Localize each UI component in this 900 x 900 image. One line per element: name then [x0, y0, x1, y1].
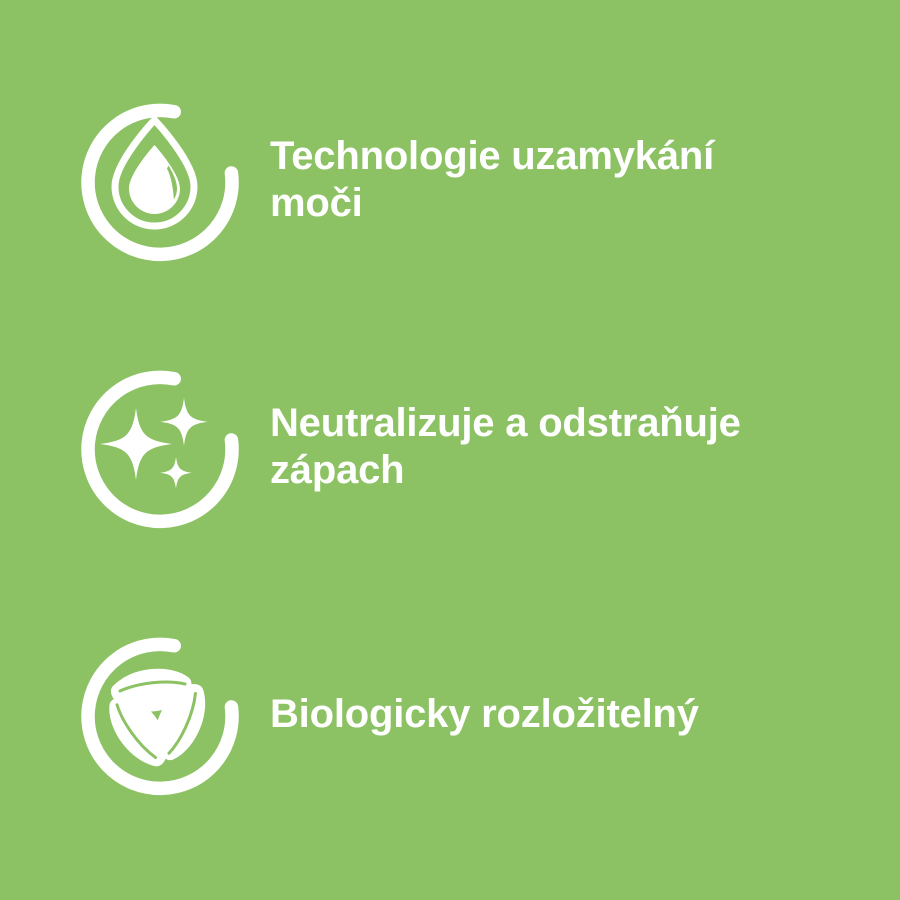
feature-label: Neutralizuje a odstraňuje zápach: [270, 400, 790, 494]
feature-label: Biologicky rozložitelný: [270, 691, 790, 738]
biodegradable-leaves-icon: [72, 629, 242, 799]
feature-item-biodegradable: Biologicky rozložitelný: [0, 629, 900, 799]
feature-list: Technologie uzamykání moči Neutralizuje …: [0, 0, 900, 900]
urine-lock-droplet-icon: [72, 95, 242, 265]
sparkles-odor-icon: [72, 362, 242, 532]
feature-item-urine-lock: Technologie uzamykání moči: [0, 95, 900, 265]
feature-poster: Technologie uzamykání moči Neutralizuje …: [0, 0, 900, 900]
feature-item-odor: Neutralizuje a odstraňuje zápach: [0, 362, 900, 532]
feature-label: Technologie uzamykání moči: [270, 133, 790, 227]
